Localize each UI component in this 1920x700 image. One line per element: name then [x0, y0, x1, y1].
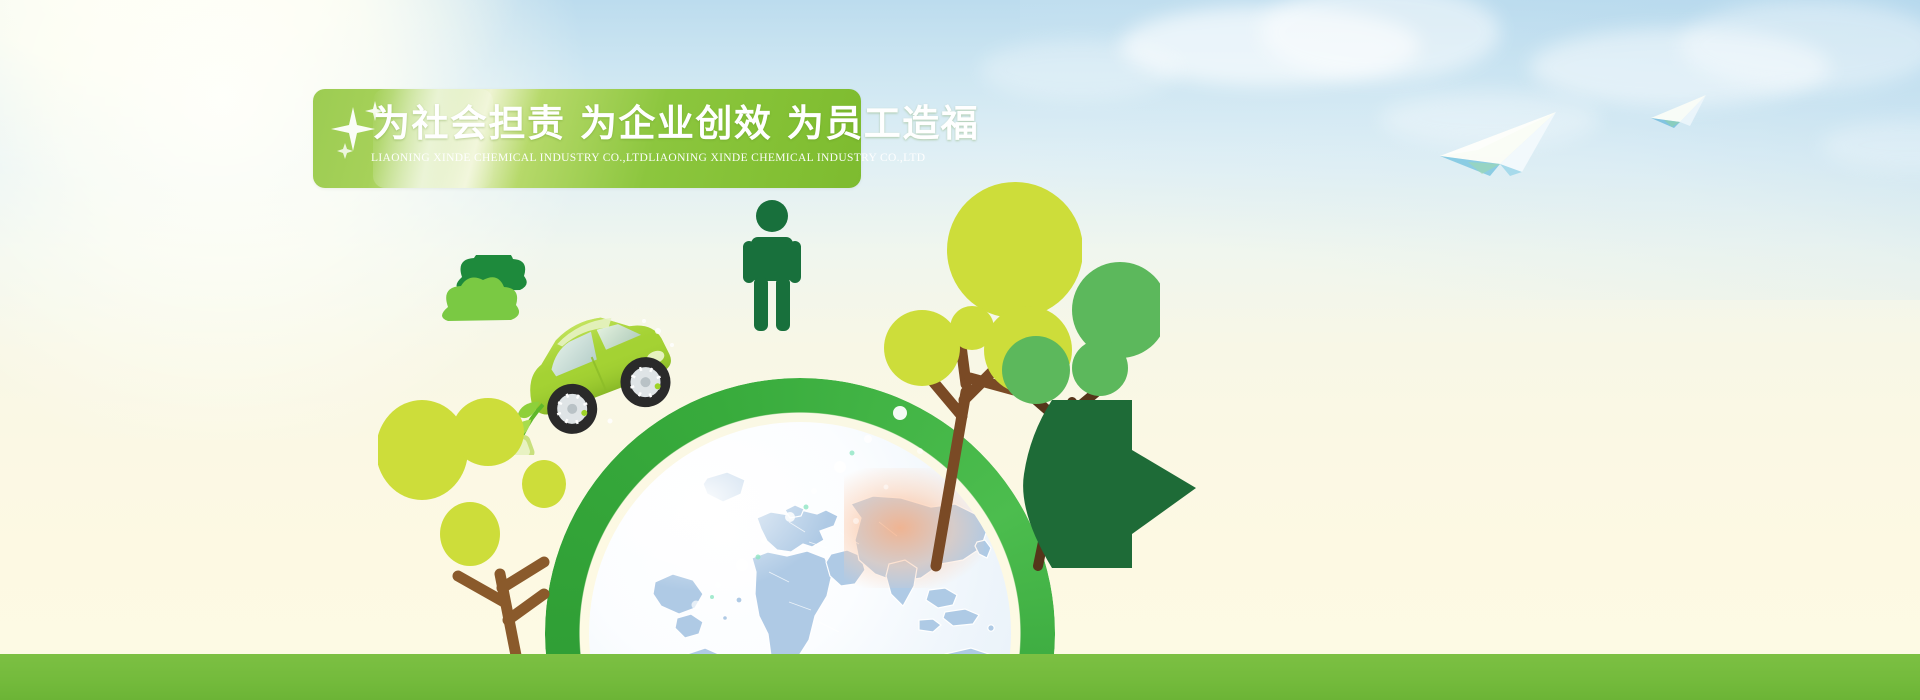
banner-subline: LIAONING XINDE CHEMICAL INDUSTRY CO.,LTD… — [371, 152, 925, 164]
headline-banner: 为社会担责 为企业创效 为员工造福 LIAONING XINDE CHEMICA… — [313, 89, 861, 188]
paper-plane-small-icon — [1650, 92, 1712, 128]
banner-stage: 为社会担责 为企业创效 为员工造福 LIAONING XINDE CHEMICA… — [0, 0, 1920, 700]
cloud-icon — [980, 40, 1180, 100]
person-icon — [742, 199, 802, 338]
ground-strip — [0, 654, 1920, 700]
paper-plane-large-icon — [1438, 104, 1568, 176]
banner-headline: 为社会担责 为企业创效 为员工造福 — [373, 105, 979, 142]
arrow-icon — [1000, 392, 1200, 577]
